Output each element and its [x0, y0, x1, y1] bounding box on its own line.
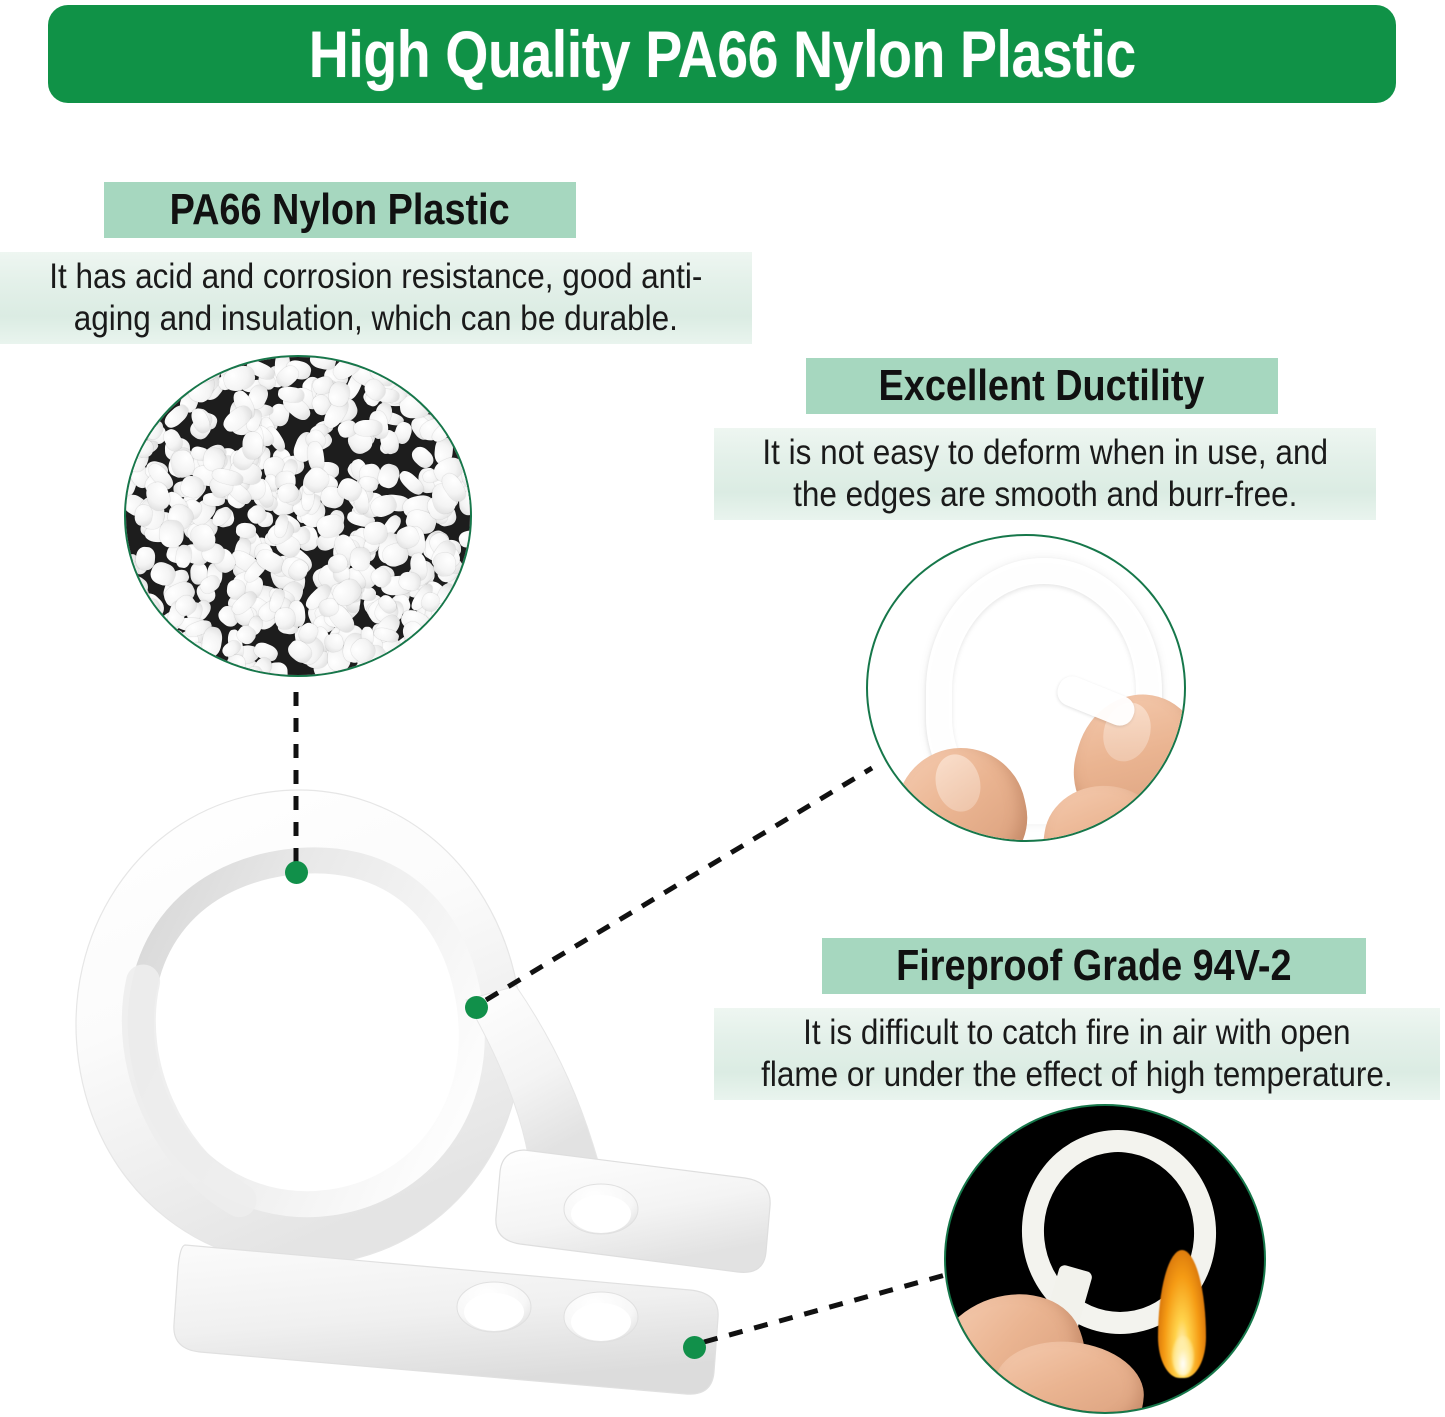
nylon-pellet [135, 439, 152, 456]
feature-heading-label: Excellent Ductility [879, 364, 1205, 408]
feature-heading-pa66-nylon-plastic: PA66 Nylon Plastic [104, 182, 576, 238]
nylon-pellets-photo [124, 355, 472, 677]
feature-body-label: It is not easy to deform when in use, an… [762, 432, 1328, 516]
feature-heading-label: PA66 Nylon Plastic [170, 188, 510, 232]
flame-core [1172, 1336, 1194, 1376]
feature-heading-excellent-ductility: Excellent Ductility [806, 358, 1278, 414]
feature-body-fireproof-grade-94v-2: It is difficult to catch fire in air wit… [714, 1008, 1440, 1100]
clamp-loop [45, 762, 552, 1294]
feature-body-label: It is difficult to catch fire in air wit… [761, 1012, 1393, 1096]
feature-heading-label: Fireproof Grade 94V-2 [896, 944, 1291, 988]
material-marker-dot [285, 861, 308, 884]
feature-body-excellent-ductility: It is not easy to deform when in use, an… [714, 428, 1376, 520]
nylon-pellet [159, 519, 183, 547]
feature-heading-fireproof-grade-94v-2: Fireproof Grade 94V-2 [822, 938, 1366, 994]
banner-title-bar: High Quality PA66 Nylon Plastic [48, 5, 1396, 103]
nylon-pellet [135, 546, 155, 570]
leader-line-ductility [486, 768, 872, 1000]
ductility-marker-dot [465, 996, 488, 1019]
nylon-pellet [354, 420, 382, 436]
feature-body-label: It has acid and corrosion resistance, go… [49, 256, 702, 340]
nylon-pellet [124, 403, 148, 424]
feature-body-pa66-nylon-plastic: It has acid and corrosion resistance, go… [0, 252, 752, 344]
nylon-pellet [455, 639, 472, 656]
infographic-canvas: High Quality PA66 Nylon Plastic [0, 0, 1445, 1417]
hands-stretching-clip-photo [866, 534, 1186, 842]
flame-test-photo [944, 1104, 1266, 1414]
fireproof-marker-dot [683, 1336, 706, 1359]
nylon-pellet [243, 432, 263, 460]
clamp-upper-tab [496, 1150, 770, 1272]
banner-title: High Quality PA66 Nylon Plastic [308, 21, 1135, 87]
nylon-pellet [432, 552, 456, 576]
leader-line-fireproof [704, 1272, 956, 1342]
clamp-lower-tab [174, 1245, 718, 1394]
